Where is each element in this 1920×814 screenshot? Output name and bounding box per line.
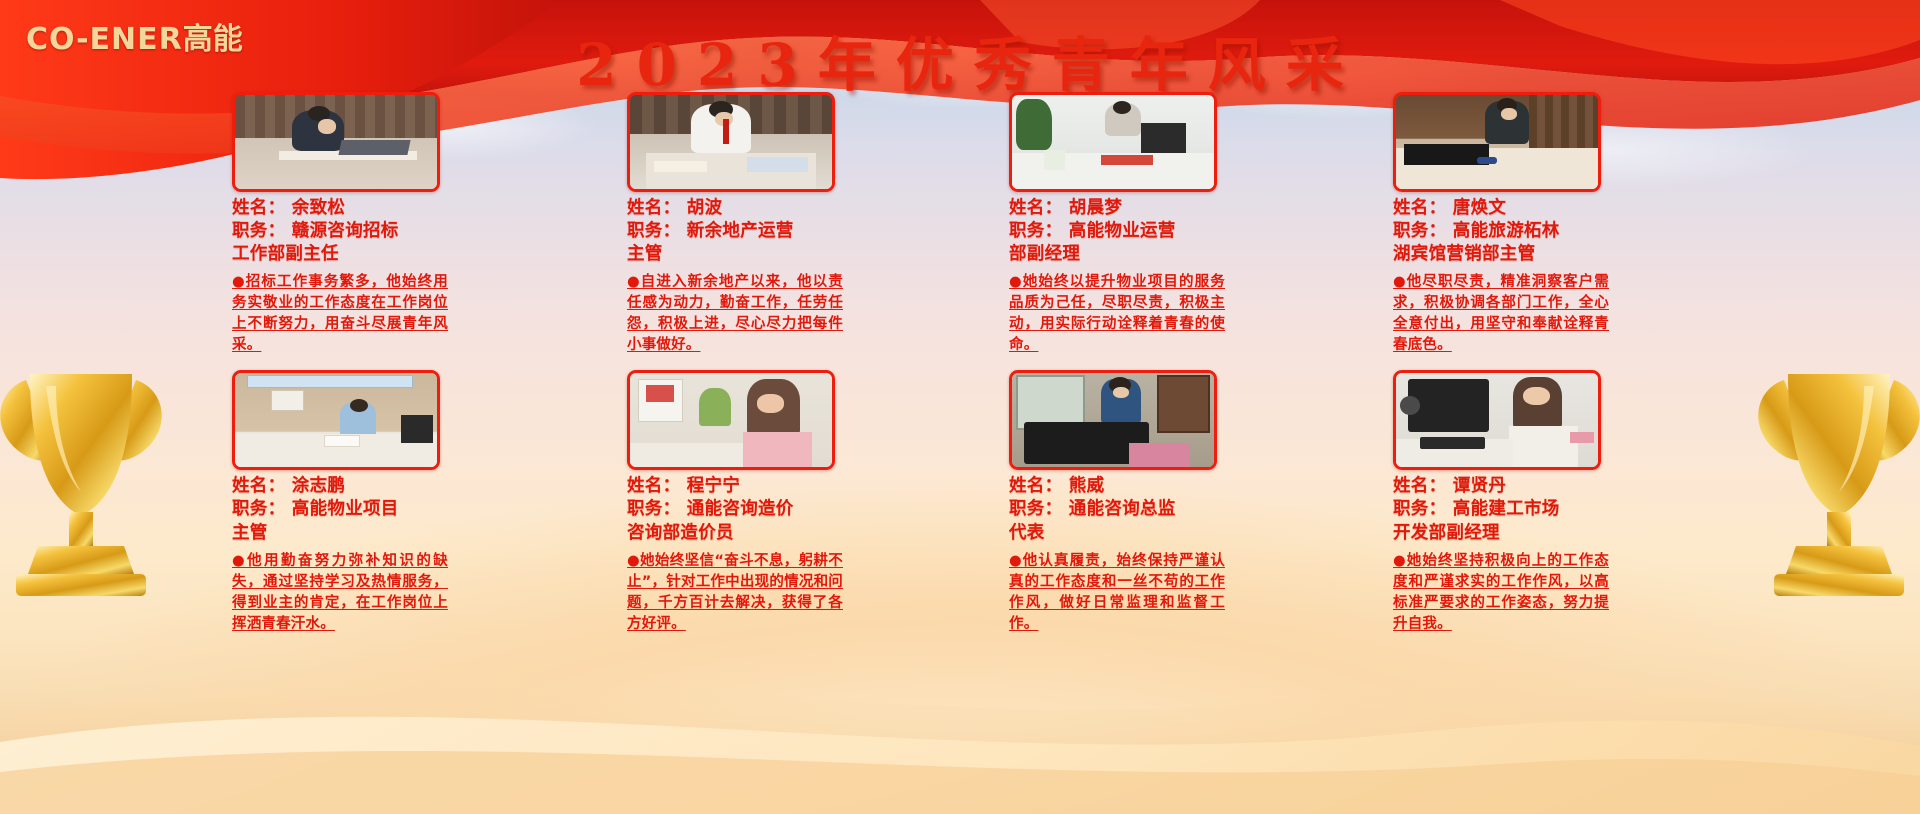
profile-name-line: 姓名： 胡晨梦	[1009, 197, 1224, 220]
profile-meta: 姓名： 胡晨梦 职务： 高能物业运营 部副经理	[1009, 197, 1224, 266]
profile-name-line: 姓名： 胡波	[627, 197, 842, 220]
profile-photo-frame	[232, 370, 440, 470]
profile-description: ●他认真履责，始终保持严谨认真的工作态度和一丝不苟的工作作风，做好日常监理和监督…	[1009, 551, 1225, 635]
profile-description: ●招标工作事务繁多，他始终用务实敬业的工作态度在工作岗位上不断努力，用奋斗尽展青…	[232, 272, 448, 356]
profile-name-line: 姓名： 唐焕文	[1393, 197, 1608, 220]
profile-photo	[1396, 95, 1598, 189]
profile-name-line: 姓名： 谭贤丹	[1393, 475, 1608, 498]
profile-photo	[1012, 95, 1214, 189]
profile-name-line: 姓名： 熊威	[1009, 475, 1224, 498]
profile-meta: 姓名： 唐焕文 职务： 高能旅游柘林 湖宾馆营销部主管	[1393, 197, 1608, 266]
profile-photo	[1012, 373, 1214, 467]
profile-photo-frame	[1009, 370, 1217, 470]
profile-role-line: 职务： 高能旅游柘林	[1393, 220, 1608, 243]
profile-role-line: 职务： 通能咨询总监	[1009, 498, 1224, 521]
profile-card: 姓名： 唐焕文 职务： 高能旅游柘林 湖宾馆营销部主管 ●他尽职尽责，精准洞察客…	[1393, 92, 1693, 356]
profile-meta: 姓名： 余致松 职务： 赣源咨询招标 工作部副主任	[232, 197, 447, 266]
profile-card: 姓名： 程宁宁 职务： 通能咨询造价 咨询部造价员 ●她始终坚信“奋斗不息，躬耕…	[619, 370, 919, 634]
profile-photo-frame	[627, 92, 835, 192]
profile-photo	[235, 373, 437, 467]
profile-photo-frame	[1393, 92, 1601, 192]
profile-card: 姓名： 胡波 职务： 新余地产运营 主管 ●自进入新余地产以来，他以责任感为动力…	[619, 92, 919, 356]
profile-meta: 姓名： 涂志鹏 职务： 高能物业项目 主管	[232, 475, 447, 544]
profile-card: 姓名： 涂志鹏 职务： 高能物业项目 主管 ●他用勤奋努力弥补知识的缺失，通过坚…	[232, 370, 532, 634]
profile-name-line: 姓名： 程宁宁	[627, 475, 842, 498]
profile-photo-frame	[627, 370, 835, 470]
profile-photo	[630, 95, 832, 189]
profile-name-line: 姓名： 涂志鹏	[232, 475, 447, 498]
profile-role-line: 职务： 赣源咨询招标	[232, 220, 447, 243]
profile-role-line-2: 主管	[232, 522, 447, 545]
profile-meta: 姓名： 熊威 职务： 通能咨询总监 代表	[1009, 475, 1224, 544]
profile-card-grid: 姓名： 余致松 职务： 赣源咨询招标 工作部副主任 ●招标工作事务繁多，他始终用…	[232, 92, 1692, 635]
profile-role-line: 职务： 通能咨询造价	[627, 498, 842, 521]
profile-card: 姓名： 胡晨梦 职务： 高能物业运营 部副经理 ●她始终以提升物业项目的服务品质…	[1006, 92, 1306, 356]
trophy-icon-right	[1704, 360, 1920, 620]
profile-role-line-2: 湖宾馆营销部主管	[1393, 243, 1608, 266]
profile-meta: 姓名： 程宁宁 职务： 通能咨询造价 咨询部造价员	[627, 475, 842, 544]
profile-role-line: 职务： 高能物业项目	[232, 498, 447, 521]
profile-description: ●他尽职尽责，精准洞察客户需求，积极协调各部门工作，全心全意付出，用坚守和奉献诠…	[1393, 272, 1609, 356]
profile-role-line: 职务： 新余地产运营	[627, 220, 842, 243]
profile-name-line: 姓名： 余致松	[232, 197, 447, 220]
profile-photo-frame	[1009, 92, 1217, 192]
profile-description: ●她始终坚信“奋斗不息，躬耕不止”，针对工作中出现的情况和问题，千方百计去解决，…	[627, 551, 843, 635]
profile-role-line: 职务： 高能物业运营	[1009, 220, 1224, 243]
profile-description: ●她始终以提升物业项目的服务品质为己任，尽职尽责，积极主动，用实际行动诠释着青春…	[1009, 272, 1225, 356]
profile-card: 姓名： 余致松 职务： 赣源咨询招标 工作部副主任 ●招标工作事务繁多，他始终用…	[232, 92, 532, 356]
profile-description: ●他用勤奋努力弥补知识的缺失，通过坚持学习及热情服务，得到业主的肯定，在工作岗位…	[232, 551, 448, 635]
profile-card: 姓名： 谭贤丹 职务： 高能建工市场 开发部副经理 ●她始终坚持积极向上的工作态…	[1393, 370, 1693, 634]
profile-card: 姓名： 熊威 职务： 通能咨询总监 代表 ●他认真履责，始终保持严谨认真的工作态…	[1006, 370, 1306, 634]
profile-role-line: 职务： 高能建工市场	[1393, 498, 1608, 521]
profile-role-line-2: 开发部副经理	[1393, 522, 1608, 545]
poster-canvas: CO-ENER高能 2023年优秀青年风采 姓名： 余致松 职务： 赣源咨询招标…	[0, 0, 1920, 814]
profile-photo-frame	[1393, 370, 1601, 470]
profile-role-line-2: 主管	[627, 243, 842, 266]
profile-meta: 姓名： 谭贤丹 职务： 高能建工市场 开发部副经理	[1393, 475, 1608, 544]
profile-photo	[235, 95, 437, 189]
profile-photo	[1396, 373, 1598, 467]
profile-description: ●她始终坚持积极向上的工作态度和严谨求实的工作作风，以高标准严要求的工作姿态，努…	[1393, 551, 1609, 635]
profile-meta: 姓名： 胡波 职务： 新余地产运营 主管	[627, 197, 842, 266]
profile-role-line-2: 部副经理	[1009, 243, 1224, 266]
page-title: 2023年优秀青年风采	[0, 18, 1920, 102]
profile-role-line-2: 代表	[1009, 522, 1224, 545]
profile-photo	[630, 373, 832, 467]
profile-photo-frame	[232, 92, 440, 192]
profile-role-line-2: 工作部副主任	[232, 243, 447, 266]
trophy-icon-left	[0, 360, 216, 620]
profile-description: ●自进入新余地产以来，他以责任感为动力，勤奋工作，任劳任怨，积极上进，尽心尽力把…	[627, 272, 843, 356]
profile-role-line-2: 咨询部造价员	[627, 522, 842, 545]
